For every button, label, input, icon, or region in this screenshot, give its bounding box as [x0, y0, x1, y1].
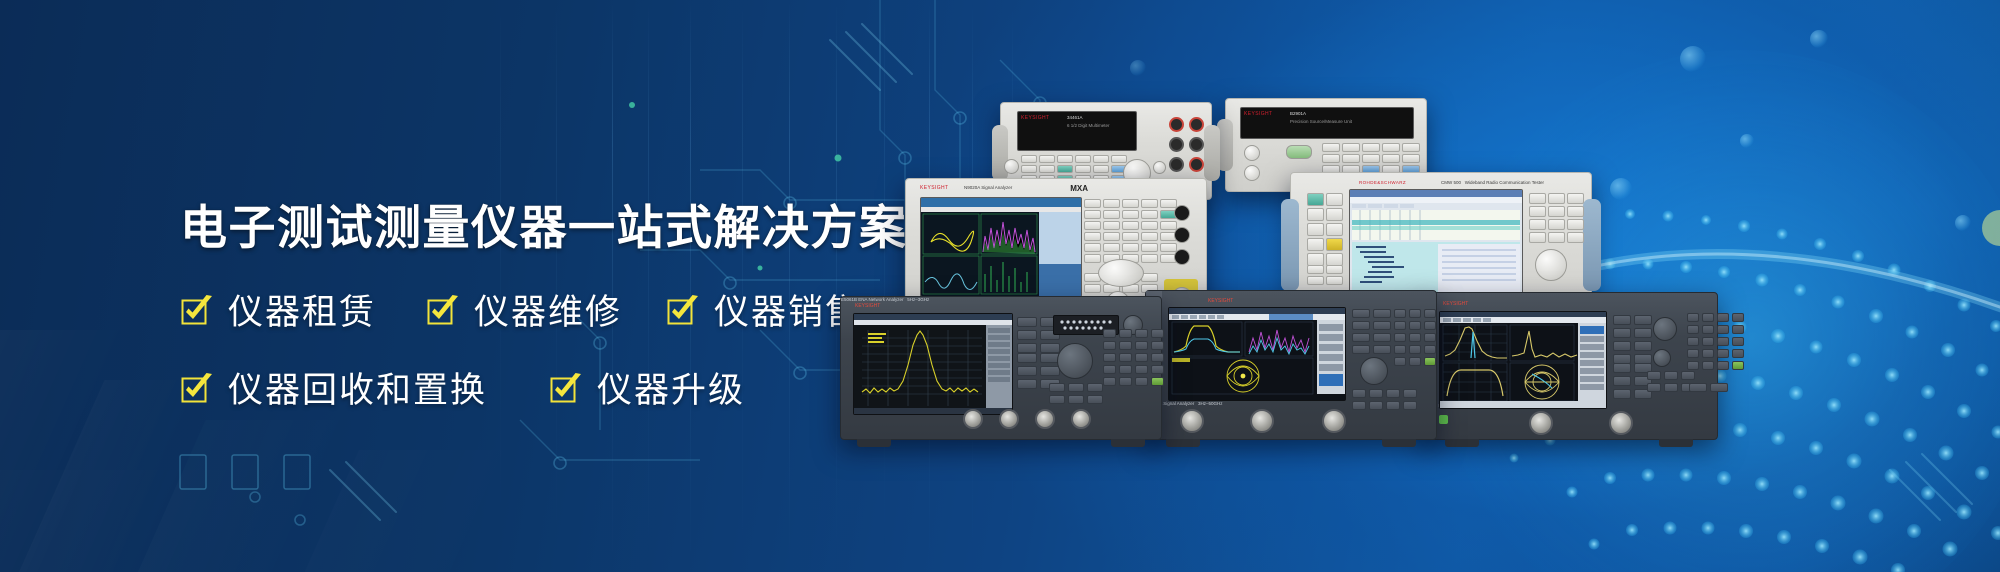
instrument-network-analyzer-3: KEYSIGHT E5071C ENA Network Analyzer 9kH… — [1420, 292, 1718, 440]
instrument-network-analyzer-1: KEYSIGHT E5061B ENA Network Analyzer 5Hz… — [840, 296, 1162, 440]
service-label: 仪器维修 — [474, 284, 622, 335]
checkbox-checked-icon — [666, 293, 700, 327]
service-item-instrument-sales[interactable]: 仪器销售 — [666, 284, 862, 335]
service-item-instrument-repair[interactable]: 仪器维修 — [426, 284, 622, 335]
checkbox-checked-icon — [180, 371, 214, 405]
instrument-cluster: KEYSIGHT 34461A 6 1/2 Digit Multimeter K… — [1020, 80, 2000, 540]
instrument-network-analyzer-2: KEYSIGHT N9030A Signal Analyzer 3Hz–50GH… — [1145, 290, 1437, 440]
checkbox-checked-icon — [549, 371, 583, 405]
service-item-instrument-upgrade[interactable]: 仪器升级 — [549, 362, 745, 413]
checkbox-checked-icon — [180, 293, 214, 327]
service-item-instrument-recycling-exchange[interactable]: 仪器回收和置换 — [180, 362, 487, 413]
promo-banner: KEYSIGHT 34461A 6 1/2 Digit Multimeter K… — [0, 0, 2000, 572]
checkbox-checked-icon — [426, 293, 460, 327]
service-label: 仪器租赁 — [228, 284, 376, 335]
service-label: 仪器回收和置换 — [228, 362, 487, 413]
service-item-instrument-rental[interactable]: 仪器租赁 — [180, 284, 376, 335]
page-title: 电子测试测量仪器一站式解决方案服务商 — [180, 205, 1000, 252]
service-label: 仪器升级 — [597, 362, 745, 413]
